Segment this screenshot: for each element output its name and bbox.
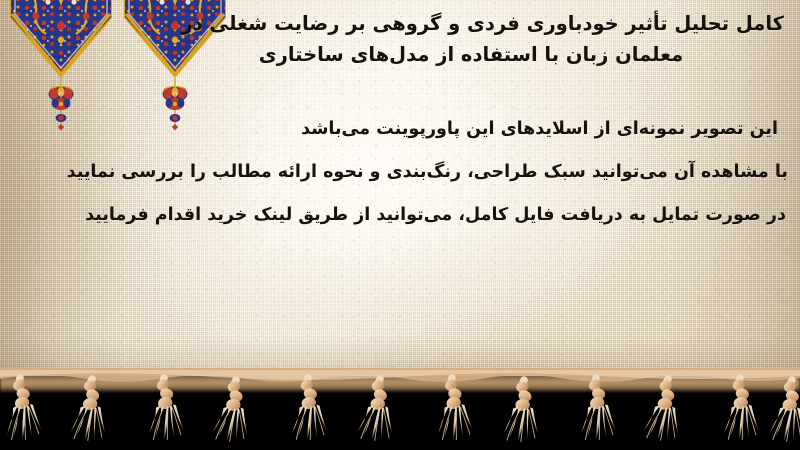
slide-title: کامل تحلیل تأثیر خودباوری فردی و گروهی ب…	[196, 8, 786, 70]
bottom-black-band	[0, 376, 800, 450]
presentation-slide: کامل تحلیل تأثیر خودباوری فردی و گروهی ب…	[0, 0, 800, 450]
slide-title-line-1: کامل تحلیل تأثیر خودباوری فردی و گروهی ب…	[196, 8, 786, 39]
persian-medallion-ornament-1	[6, 0, 116, 108]
body-line-1: این تصویر نمونه‌ای از اسلایدهای این پاور…	[8, 108, 790, 151]
body-line-2: با مشاهده آن می‌توانید سبک طراحی، رنگ‌بن…	[8, 151, 790, 194]
slide-body-text: این تصویر نمونه‌ای از اسلایدهای این پاور…	[8, 108, 790, 237]
body-line-3: در صورت تمایل به دریافت فایل کامل، می‌تو…	[8, 194, 790, 237]
slide-title-line-2: معلمان زبان با استفاده از مدل‌های ساختار…	[196, 39, 786, 70]
